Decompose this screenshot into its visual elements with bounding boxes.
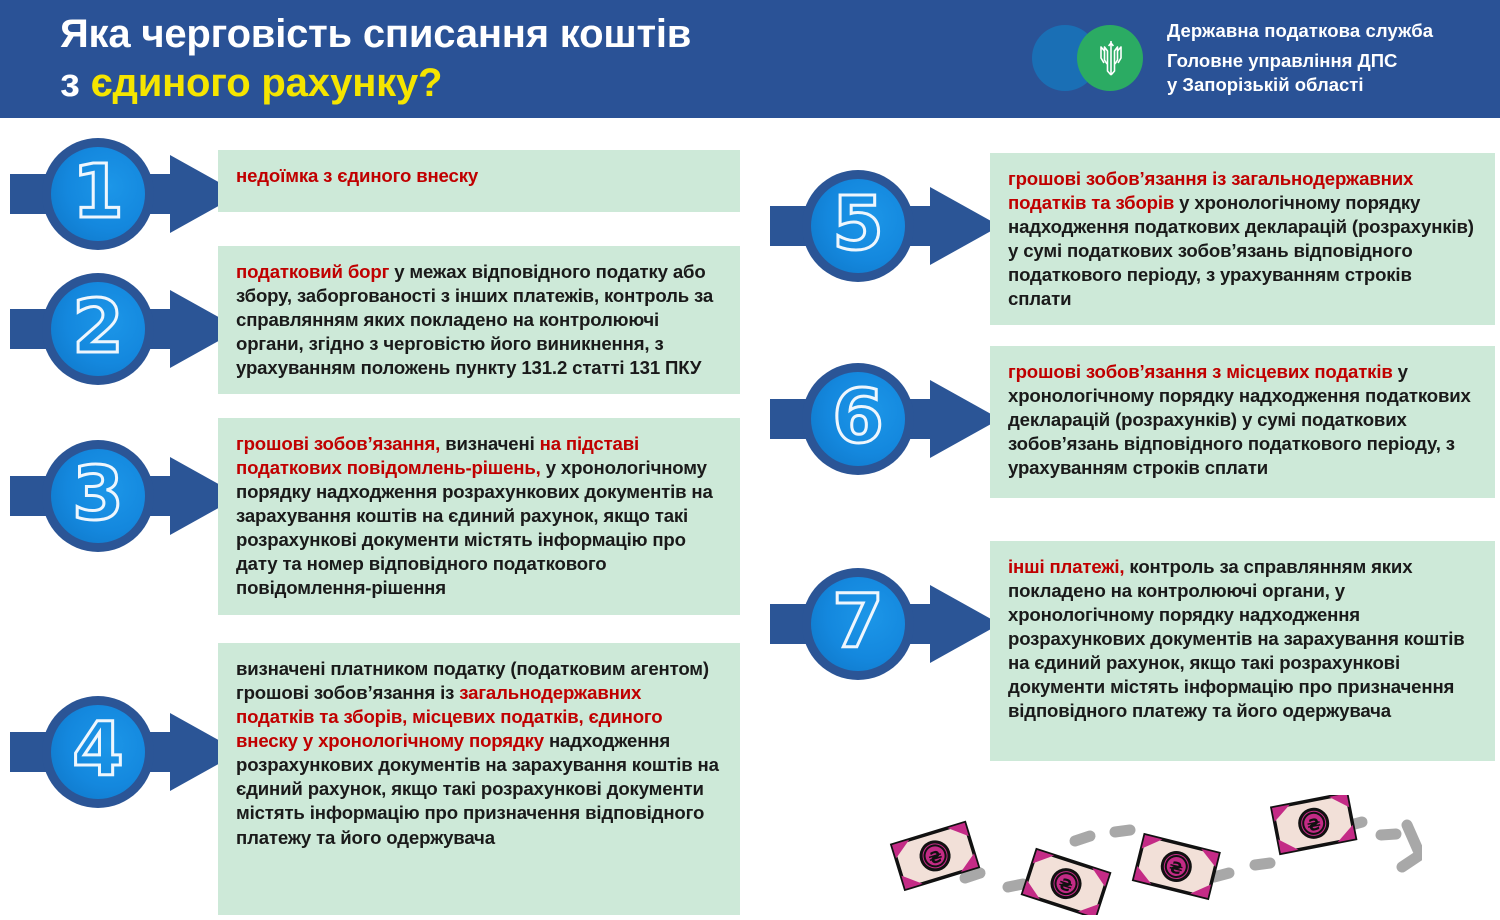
step-text-card: визначені платником податку (податковим …	[218, 643, 740, 915]
step-text-card: грошові зобов’язання, визначені на підст…	[218, 418, 740, 615]
page-title-line-2: з єдиного рахунку?	[60, 59, 990, 108]
ukraine-trident-icon	[1096, 38, 1126, 78]
body-text: у хронологічному порядку надходження роз…	[236, 457, 713, 598]
step-text-card: грошові зобов’язання з місцевих податків…	[990, 346, 1495, 498]
highlighted-text: грошові зобов’язання,	[236, 433, 440, 454]
step-arrow-2: 2	[10, 273, 240, 385]
highlighted-text: податковий борг	[236, 261, 389, 282]
flying-banknotes-icon: ₴ ₴ ₴	[862, 795, 1422, 915]
step-number: 3	[51, 449, 145, 543]
highlighted-text: інші платежі,	[1008, 556, 1124, 577]
agency-logo: Державна податкова служба Головне управл…	[1032, 18, 1472, 104]
body-text: визначені	[440, 433, 539, 454]
agency-name-line-3: у Запорізькій області	[1167, 73, 1433, 97]
step-arrow-4: 4	[10, 696, 240, 808]
step-number: 6	[811, 372, 905, 466]
body-text: контроль за справлянням яких покладено н…	[1008, 556, 1465, 721]
step-number: 4	[51, 705, 145, 799]
step-arrow-7: 7	[770, 568, 1000, 680]
agency-name-line-2: Головне управління ДПС	[1167, 49, 1433, 73]
step-number: 1	[51, 147, 145, 241]
agency-name: Державна податкова служба Головне управл…	[1167, 20, 1433, 97]
steps-column-left: 1недоїмка з єдиного внеску2податковий бо…	[0, 118, 760, 920]
step-text-card: недоїмка з єдиного внеску	[218, 150, 740, 212]
step-arrow-3: 3	[10, 440, 240, 552]
step-number: 7	[811, 577, 905, 671]
step-number: 5	[811, 179, 905, 273]
highlighted-text: грошові зобов’язання з місцевих податків	[1008, 361, 1393, 382]
step-number: 2	[51, 282, 145, 376]
step-arrow-6: 6	[770, 363, 1000, 475]
page-title-highlight: єдиного рахунку?	[91, 61, 443, 105]
step-text-card: податковий борг у межах відповідного под…	[218, 246, 740, 394]
step-text-card: грошові зобов’язання із загальнодержавни…	[990, 153, 1495, 325]
step-arrow-5: 5	[770, 170, 1000, 282]
highlighted-text: недоїмка з єдиного внеску	[236, 165, 478, 186]
page-title: Яка черговість списання коштів з єдиного…	[60, 10, 990, 108]
step-text-card: інші платежі, контроль за справлянням як…	[990, 541, 1495, 761]
page-title-prefix: з	[60, 61, 91, 105]
agency-name-line-1: Державна податкова служба	[1167, 20, 1433, 42]
step-arrow-1: 1	[10, 138, 240, 250]
page-title-line-1: Яка черговість списання коштів	[60, 10, 990, 59]
page-header: Яка черговість списання коштів з єдиного…	[0, 0, 1500, 118]
